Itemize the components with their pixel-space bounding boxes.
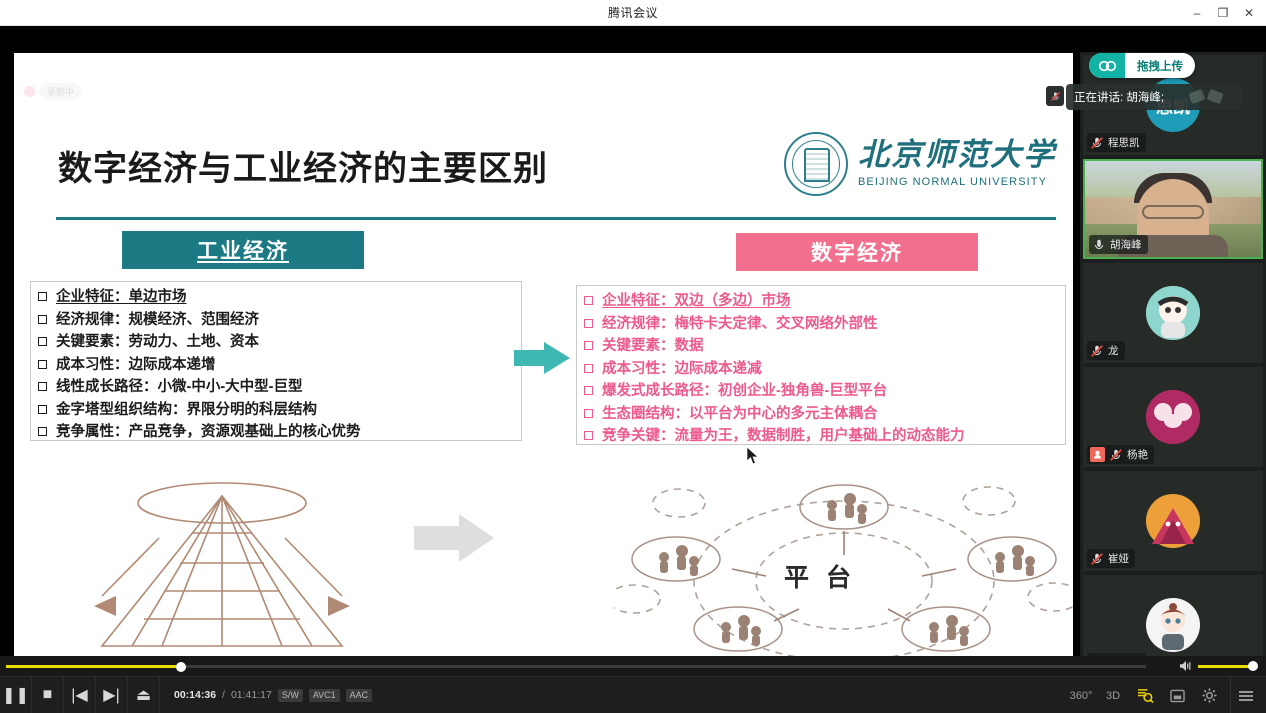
- mic-icon: [1092, 238, 1106, 252]
- video-player-area[interactable]: 录制中 数字经济与工业经济的主要区别 北京师范大学 BEIJING NORMAL…: [0, 26, 1266, 713]
- volume-control[interactable]: [1179, 660, 1258, 672]
- menu-hamburger-icon[interactable]: [1230, 677, 1260, 713]
- industrial-economy-header-label: 工业经济: [197, 235, 289, 265]
- cloud-upload-icon: [1089, 53, 1125, 78]
- current-time: 00:14:36: [174, 689, 216, 701]
- list-item-label: 爆发式成长路径：初创企业-独角兽-巨型平台: [602, 380, 887, 403]
- slide-title: 数字经济与工业经济的主要区别: [58, 141, 548, 190]
- list-item-label: 生态圈结构：以平台为中心的多元主体耦合: [602, 403, 878, 426]
- list-item: 经济规律：规模经济、范围经济: [38, 309, 558, 332]
- university-logo: 北京师范大学 BEIJING NORMAL UNIVERSITY: [784, 129, 1064, 199]
- list-item-label: 成本习性：边际成本递减: [602, 358, 762, 381]
- checkbox-icon: [38, 315, 47, 324]
- list-item: 爆发式成长路径：初创企业-独角兽-巨型平台: [584, 380, 1073, 403]
- list-item-label: 金字塔型组织结构：界限分明的科层结构: [56, 399, 317, 422]
- list-item-label: 经济规律：梅特卡夫定律、交叉网络外部性: [602, 313, 878, 336]
- participant-nameplate: 胡海峰: [1089, 235, 1148, 254]
- snapshot-search-icon[interactable]: [1130, 677, 1160, 713]
- playback-time-info: 00:14:36 / 01:41:17 S/W AVC1 AAC: [160, 689, 372, 702]
- checkbox-icon: [584, 409, 593, 418]
- checkbox-icon: [584, 296, 593, 305]
- participant-nameplate: 程思凯: [1087, 133, 1146, 152]
- participant-nameplate: 崔娅: [1087, 549, 1135, 568]
- checkbox-icon: [584, 431, 593, 440]
- checkbox-icon: [584, 386, 593, 395]
- list-item-label: 竞争属性：产品竞争，资源观基础上的核心优势: [56, 421, 361, 444]
- list-item-label: 线性成长路径：小微-中小-大中型-巨型: [56, 376, 302, 399]
- participant-nameplate: 龙: [1087, 341, 1125, 360]
- participant-name: 龙: [1108, 343, 1119, 358]
- checkbox-icon: [38, 405, 47, 414]
- avatar-mouse-icon: [1146, 390, 1200, 444]
- mouse-cursor-icon: [747, 447, 759, 465]
- list-item: 企业特征：双边（多边）市场: [584, 290, 1073, 313]
- active-speaker-banner: 正在讲话: 胡海峰;: [1066, 84, 1242, 110]
- hierarchy-pyramid-diagram: [54, 478, 524, 675]
- participant-name: 程思凯: [1108, 135, 1140, 150]
- eject-button[interactable]: ⏏: [128, 677, 160, 713]
- volume-fill: [1198, 665, 1250, 668]
- volume-handle[interactable]: [1248, 661, 1258, 671]
- speaker-mic-indicator: [1046, 86, 1064, 106]
- list-item: 成本习性：边际成本递减: [584, 358, 1073, 381]
- recording-dot-icon: [24, 86, 35, 97]
- participant-name: 胡海峰: [1110, 237, 1142, 252]
- player-control-bar[interactable]: ❚❚ ■ |◀ ▶| ⏏ 00:14:36 / 01:41:17 S/W AVC…: [0, 676, 1266, 713]
- mic-muted-icon: [1090, 552, 1104, 566]
- list-item: 竞争属性：产品竞争，资源观基础上的核心优势: [38, 421, 558, 444]
- list-item-label: 关键要素：劳动力、土地、资本: [56, 331, 259, 354]
- mic-muted-icon: [1090, 136, 1104, 150]
- video-person-glasses-icon: [1142, 205, 1204, 219]
- platform-center-label: 平 台: [784, 558, 856, 594]
- time-separator: /: [222, 689, 225, 701]
- list-item-label: 企业特征：单边市场: [56, 286, 187, 309]
- title-divider: [56, 217, 1056, 220]
- transition-arrow-icon: [514, 341, 570, 375]
- list-item: 竞争关键：流量为王，数据制胜，用户基础上的动态能力: [584, 425, 1073, 448]
- checkbox-icon: [38, 382, 47, 391]
- list-item-label: 经济规律：规模经济、范围经济: [56, 309, 259, 332]
- participant-nameplate: 杨艳: [1087, 445, 1154, 464]
- progress-slider[interactable]: [6, 665, 1146, 668]
- host-badge-icon: [1090, 447, 1105, 462]
- avatar: [1146, 390, 1200, 444]
- screenshot-icon[interactable]: [1162, 677, 1192, 713]
- window-titlebar: 腾讯会议 – ❐ ✕: [0, 0, 1266, 26]
- list-item-label: 关键要素：数据: [602, 335, 704, 358]
- drag-upload-chip[interactable]: 拖拽上传: [1089, 53, 1195, 78]
- mic-muted-icon: [1109, 448, 1123, 462]
- checkbox-icon: [38, 292, 47, 301]
- drag-upload-label: 拖拽上传: [1125, 58, 1195, 74]
- checkbox-icon: [584, 319, 593, 328]
- checkbox-icon: [584, 341, 593, 350]
- maximize-icon[interactable]: ❐: [1210, 0, 1236, 26]
- participant-name: 杨艳: [1127, 447, 1148, 462]
- participant-tile[interactable]: 胡海峰: [1083, 159, 1263, 259]
- stop-button[interactable]: ■: [32, 677, 64, 713]
- list-item-label: 企业特征：双边（多边）市场: [602, 290, 791, 313]
- volume-slider[interactable]: [1198, 665, 1258, 668]
- previous-button[interactable]: |◀: [64, 677, 96, 713]
- university-seal-icon: [784, 132, 848, 196]
- checkbox-icon: [584, 364, 593, 373]
- industrial-economy-list: 企业特征：单边市场 经济规律：规模经济、范围经济 关键要素：劳动力、土地、资本 …: [38, 286, 558, 444]
- industrial-economy-header: 工业经济: [122, 231, 364, 269]
- list-item-label: 竞争关键：流量为王，数据制胜，用户基础上的动态能力: [602, 425, 965, 448]
- avatar: [1146, 494, 1200, 548]
- list-item: 线性成长路径：小微-中小-大中型-巨型: [38, 376, 558, 399]
- audio-codec-badge: AAC: [346, 689, 373, 702]
- digital-economy-list: 企业特征：双边（多边）市场 经济规律：梅特卡夫定律、交叉网络外部性 关键要素：数…: [584, 290, 1073, 448]
- progress-handle[interactable]: [176, 662, 186, 672]
- list-item: 生态圈结构：以平台为中心的多元主体耦合: [584, 403, 1073, 426]
- avatar-art-icon: [1146, 494, 1200, 548]
- window-controls: – ❐ ✕: [1184, 0, 1262, 26]
- participant-tile[interactable]: 杨艳: [1083, 367, 1263, 467]
- settings-gear-icon[interactable]: [1194, 677, 1224, 713]
- participant-name: 崔娅: [1108, 551, 1129, 566]
- university-name-cn: 北京师范大学: [858, 140, 1056, 171]
- list-item: 关键要素：劳动力、土地、资本: [38, 331, 558, 354]
- avatar: [1146, 286, 1200, 340]
- checkbox-icon: [38, 427, 47, 436]
- mic-muted-icon: [1050, 90, 1061, 103]
- avatar: [1146, 598, 1200, 652]
- list-item: 经济规律：梅特卡夫定律、交叉网络外部性: [584, 313, 1073, 336]
- speaking-waveform-icon: [1188, 88, 1234, 106]
- next-button[interactable]: ▶|: [96, 677, 128, 713]
- mic-muted-icon: [1090, 344, 1104, 358]
- seal-bell-icon: [804, 148, 830, 182]
- recording-indicator: 录制中: [24, 83, 81, 100]
- active-speaker-label: 正在讲话: 胡海峰;: [1074, 89, 1164, 105]
- speaker-icon[interactable]: [1179, 660, 1193, 672]
- window-title: 腾讯会议: [608, 4, 658, 21]
- decoder-badge: S/W: [278, 689, 303, 702]
- total-time: 01:41:17: [231, 689, 272, 701]
- list-item: 成本习性：边际成本递增: [38, 354, 558, 377]
- list-item: 金字塔型组织结构：界限分明的科层结构: [38, 399, 558, 422]
- pause-button[interactable]: ❚❚: [0, 677, 32, 713]
- close-icon[interactable]: ✕: [1236, 0, 1262, 26]
- recording-label: 录制中: [40, 83, 81, 100]
- 360-view-button[interactable]: 360°: [1066, 677, 1096, 713]
- list-item: 关键要素：数据: [584, 335, 1073, 358]
- avatar-anime-icon: [1146, 598, 1200, 652]
- 3d-view-button[interactable]: 3D: [1098, 677, 1128, 713]
- video-codec-badge: AVC1: [309, 689, 340, 702]
- list-item: 企业特征：单边市场: [38, 286, 558, 309]
- minimize-icon[interactable]: –: [1184, 0, 1210, 26]
- player-right-controls[interactable]: 360° 3D: [1066, 677, 1260, 713]
- university-name-en: BEIJING NORMAL UNIVERSITY: [858, 176, 1056, 188]
- progress-fill: [6, 665, 176, 668]
- participant-tile[interactable]: 崔娅: [1083, 471, 1263, 571]
- list-item-label: 成本习性：边际成本递增: [56, 354, 216, 377]
- participant-rail[interactable]: 思凯 程思凯: [1080, 52, 1266, 682]
- checkbox-icon: [38, 360, 47, 369]
- checkbox-icon: [38, 337, 47, 346]
- app-root: 腾讯会议 – ❐ ✕ 录制中 数字经济与工业经济的主要区别 北京师范大学: [0, 0, 1266, 713]
- progress-row[interactable]: [0, 656, 1266, 676]
- avatar-person-icon: [1146, 286, 1200, 340]
- shared-screen-slide: 录制中 数字经济与工业经济的主要区别 北京师范大学 BEIJING NORMAL…: [14, 53, 1073, 675]
- digital-economy-header: 数字经济: [736, 233, 978, 271]
- participant-tile[interactable]: 龙: [1083, 263, 1263, 363]
